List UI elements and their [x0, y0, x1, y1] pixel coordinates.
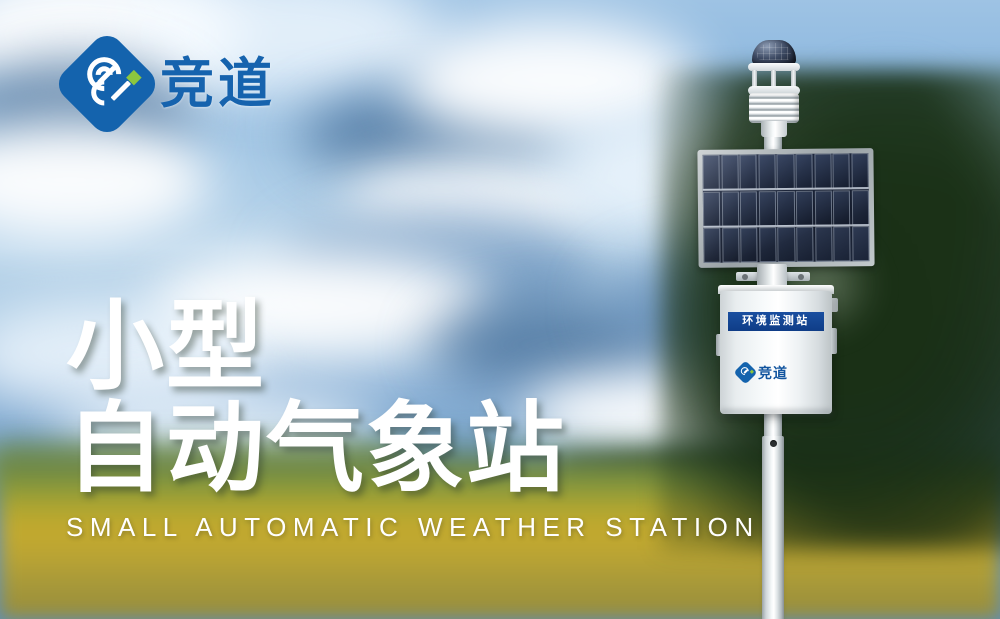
solar-cell — [740, 154, 757, 189]
solar-cell — [796, 190, 813, 225]
solar-cell — [759, 191, 776, 226]
solar-cell — [777, 154, 794, 189]
cabinet-label-text: 环境监测站 — [742, 316, 810, 327]
support-mast-lower — [762, 436, 784, 619]
jingdao-diamond-icon — [68, 45, 146, 123]
headline-line-2: 自动气象站 — [66, 398, 686, 500]
solar-panel — [697, 148, 874, 268]
solar-cell — [795, 154, 812, 189]
headline-line-1: 小型 — [66, 296, 686, 398]
cabinet-vent-right — [831, 328, 837, 354]
solar-cell — [703, 191, 720, 226]
solar-cell — [721, 154, 738, 189]
solar-cell — [740, 227, 757, 262]
solar-cell — [833, 226, 850, 261]
solar-cell — [852, 226, 869, 261]
solar-cell — [702, 155, 719, 190]
solar-cell — [833, 153, 850, 188]
solar-cell — [777, 190, 794, 225]
brand-wordmark: 竞道 — [160, 57, 276, 111]
solar-cell — [851, 153, 868, 188]
headline-block: 小型 自动气象站 SMALL AUTOMATIC WEATHER STATION — [66, 296, 686, 543]
solar-panel-frame — [697, 148, 874, 268]
brand-logo[interactable]: 竞道 — [68, 45, 276, 123]
cabinet-brand-logo: 竞道 — [737, 364, 788, 381]
solar-panel-cells — [702, 153, 869, 263]
jingdao-diamond-icon — [737, 364, 754, 381]
mast-screw-hole — [770, 440, 777, 447]
cabinet-shadow — [720, 410, 832, 418]
solar-cell — [814, 190, 831, 225]
cabinet-brand-text: 竞道 — [758, 366, 788, 380]
solar-cell — [833, 190, 850, 225]
solar-cell — [796, 227, 813, 262]
cabinet-vent-left — [716, 334, 721, 356]
solar-cell — [815, 227, 832, 262]
solar-cell — [852, 190, 869, 225]
ultrasonic-weather-sensor — [742, 36, 806, 136]
cabinet-label-band: 环境监测站 — [728, 312, 824, 331]
monitoring-cabinet — [720, 291, 832, 414]
sensor-neck — [761, 121, 787, 137]
solar-cell — [778, 227, 795, 262]
solar-cell — [722, 227, 739, 262]
product-banner: 竞道 小型 自动气象站 SMALL AUTOMATIC WEATHER STAT… — [0, 0, 1000, 619]
solar-cell — [721, 191, 738, 226]
solar-cell — [740, 191, 757, 226]
weather-station-device: 环境监测站 竞道 — [690, 36, 880, 619]
solar-cell — [759, 227, 776, 262]
headline-subtitle: SMALL AUTOMATIC WEATHER STATION — [66, 512, 686, 543]
solar-cell — [814, 154, 831, 189]
radiation-shield — [749, 93, 799, 123]
solar-cell — [758, 154, 775, 189]
solar-cell — [703, 228, 720, 263]
